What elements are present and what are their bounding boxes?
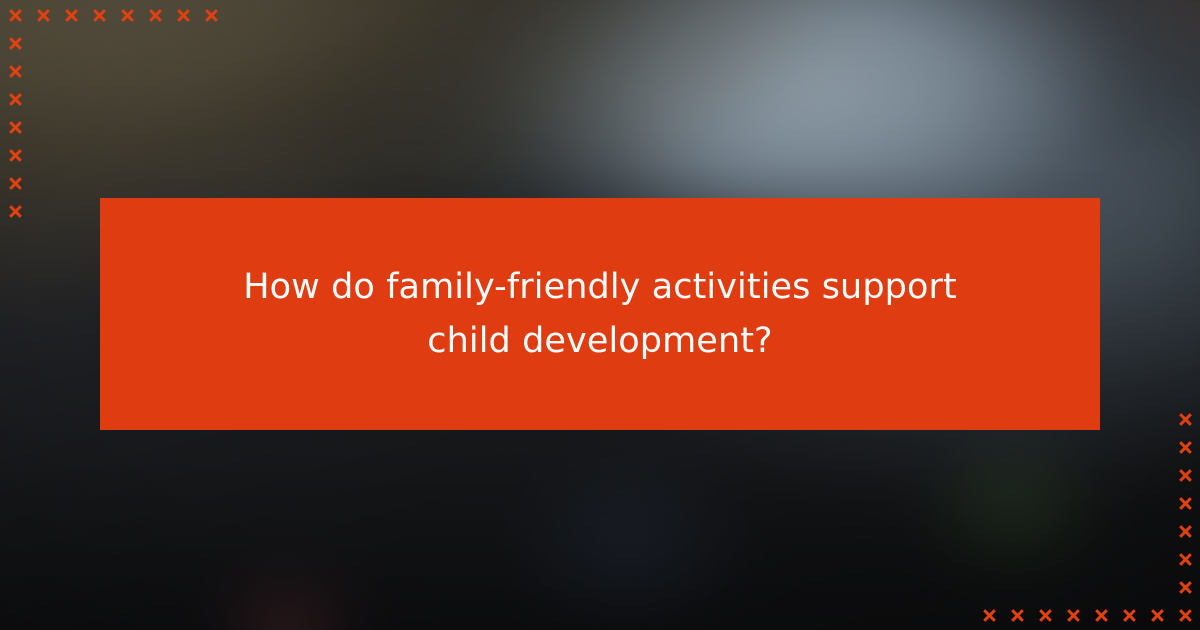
x-icon [1178, 496, 1192, 510]
decorative-x-column-left [8, 36, 22, 218]
x-icon [1178, 468, 1192, 482]
decorative-x-row-top-left [8, 8, 218, 22]
x-icon [36, 8, 50, 22]
x-icon [8, 8, 22, 22]
x-icon [8, 120, 22, 134]
x-icon [92, 8, 106, 22]
decorative-x-column-right [1178, 412, 1192, 594]
x-icon [204, 8, 218, 22]
x-icon [1178, 580, 1192, 594]
x-icon [1066, 608, 1080, 622]
x-icon [1150, 608, 1164, 622]
decorative-x-row-bottom-right [982, 608, 1192, 622]
x-icon [1178, 524, 1192, 538]
x-icon [1094, 608, 1108, 622]
x-icon [1178, 440, 1192, 454]
x-icon [1010, 608, 1024, 622]
x-icon [1178, 552, 1192, 566]
x-icon [1178, 412, 1192, 426]
x-icon [1122, 608, 1136, 622]
x-icon [8, 92, 22, 106]
x-icon [148, 8, 162, 22]
x-icon [120, 8, 134, 22]
x-icon [8, 148, 22, 162]
x-icon [1038, 608, 1052, 622]
x-icon [64, 8, 78, 22]
headline-banner: How do family-friendly activities suppor… [100, 198, 1100, 430]
page-title: How do family-friendly activities suppor… [205, 260, 995, 369]
x-icon [176, 8, 190, 22]
x-icon [982, 608, 996, 622]
x-icon [8, 176, 22, 190]
x-icon [8, 204, 22, 218]
x-icon [8, 64, 22, 78]
social-share-card: How do family-friendly activities suppor… [0, 0, 1200, 630]
x-icon [8, 36, 22, 50]
x-icon [1178, 608, 1192, 622]
